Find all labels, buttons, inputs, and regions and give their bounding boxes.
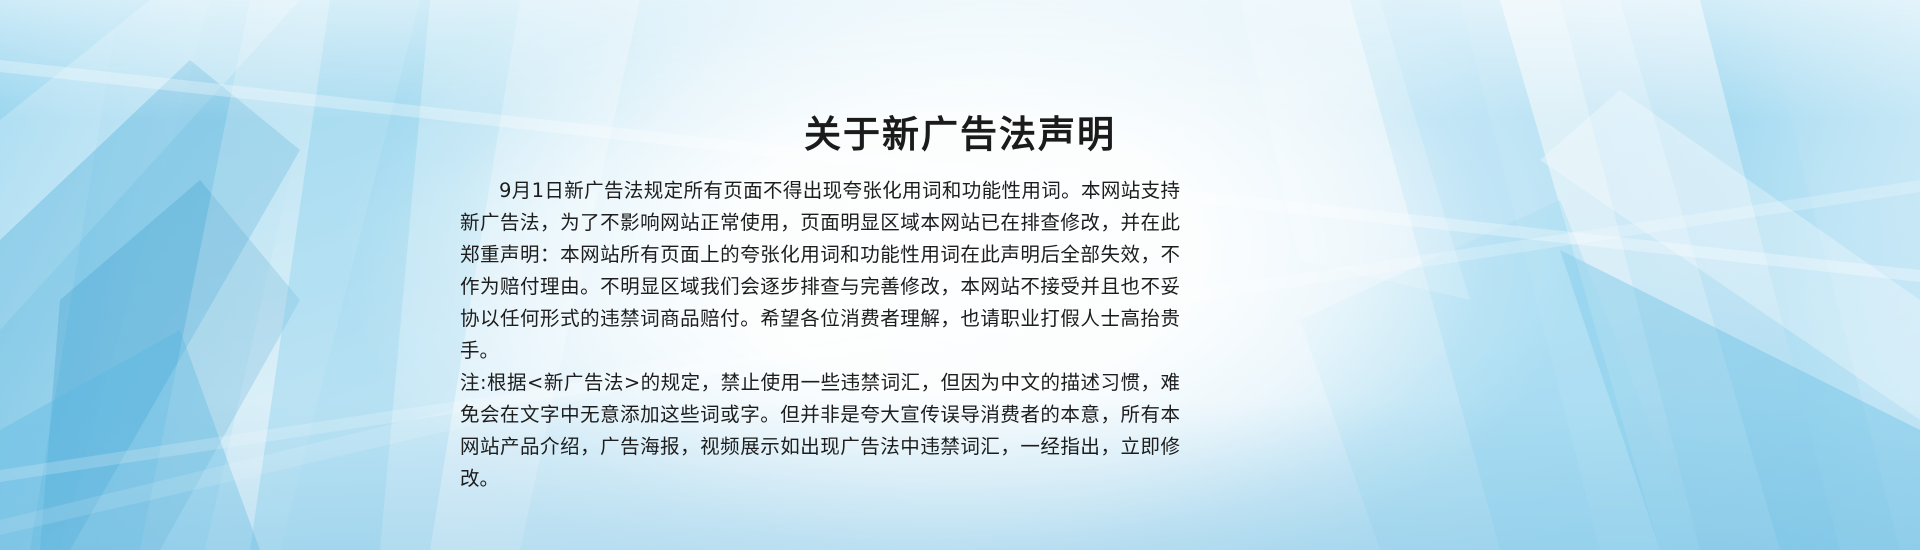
statement-paragraph: 9月1日新广告法规定所有页面不得出现夸张化用词和功能性用词。本网站支持新广告法，… — [460, 175, 1180, 367]
note-paragraph: 注:根据<新广告法>的规定，禁止使用一些违禁词汇，但因为中文的描述习惯，难免会在… — [460, 367, 1180, 495]
page-title: 关于新广告法声明 — [0, 113, 1920, 157]
statement-body: 9月1日新广告法规定所有页面不得出现夸张化用词和功能性用词。本网站支持新广告法，… — [460, 175, 1180, 495]
banner-content: 关于新广告法声明 9月1日新广告法规定所有页面不得出现夸张化用词和功能性用词。本… — [0, 0, 1920, 550]
advertising-law-statement-banner: 关于新广告法声明 9月1日新广告法规定所有页面不得出现夸张化用词和功能性用词。本… — [0, 0, 1920, 550]
